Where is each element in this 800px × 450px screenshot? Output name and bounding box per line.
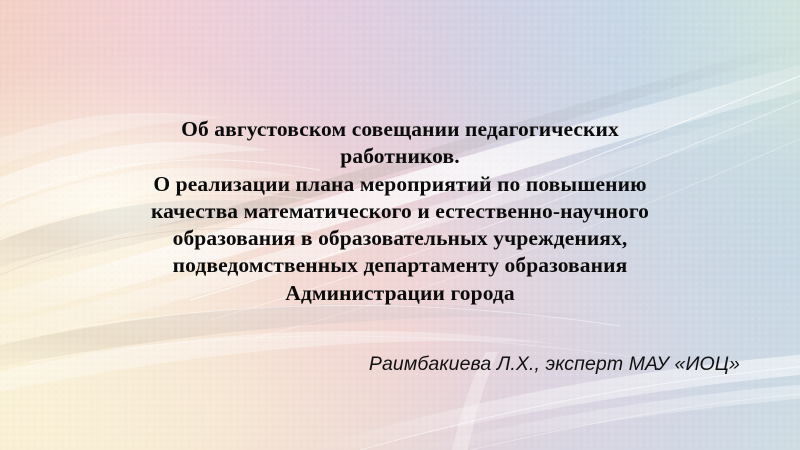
slide-author-subtitle: Раимбакиева Л.Х., эксперт МАУ «ИОЦ» (90, 352, 740, 377)
slide-text-area: Об августовском совещании педагогических… (0, 0, 800, 450)
presentation-slide: Об августовском совещании педагогических… (0, 0, 800, 450)
slide-title: Об августовском совещании педагогических… (90, 116, 710, 307)
